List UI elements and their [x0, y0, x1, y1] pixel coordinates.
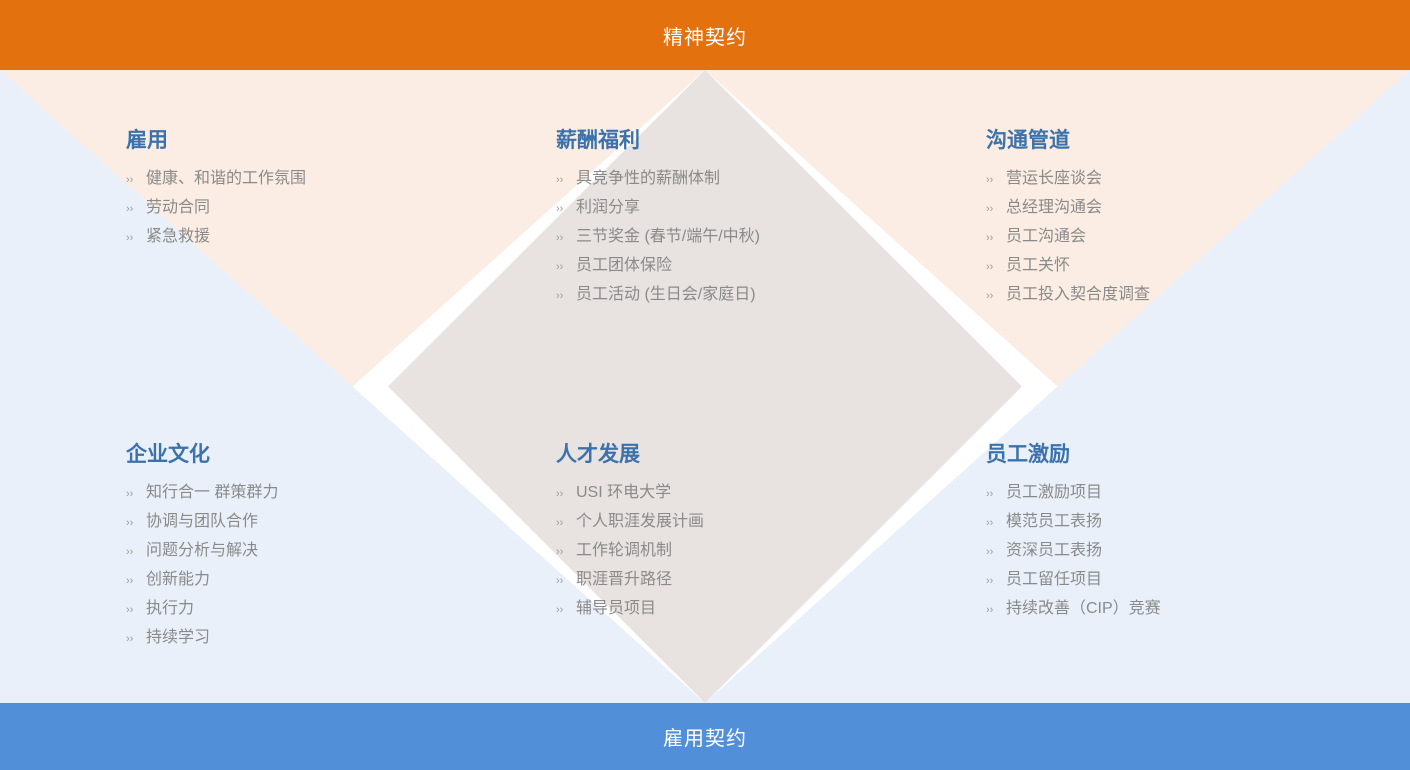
list-item-label: 员工激励项目 — [1006, 479, 1102, 507]
double-chevron-icon: ›› — [126, 625, 146, 653]
list-item-label: 员工活动 (生日会/家庭日) — [576, 281, 756, 309]
bottom-banner: 雇用契约 — [0, 703, 1410, 770]
double-chevron-icon: ›› — [556, 567, 576, 595]
list-item-label: 员工留任项目 — [1006, 566, 1102, 594]
group-item-list: ›› 营运长座谈会 ›› 总经理沟通会 ›› 员工沟通会 ›› 员工关怀 ›› — [986, 165, 1150, 310]
group-compensation-benefits: 薪酬福利 ›› 具竞争性的薪酬体制 ›› 利润分享 ›› 三节奖金 (春节/端午… — [556, 128, 760, 310]
double-chevron-icon: ›› — [556, 282, 576, 310]
double-chevron-icon: ›› — [986, 166, 1006, 194]
list-item[interactable]: ›› 资深员工表扬 — [986, 537, 1161, 566]
group-item-list: ›› USI 环电大学 ›› 个人职涯发展计画 ›› 工作轮调机制 ›› 职涯晋… — [556, 479, 704, 624]
list-item-label: 员工沟通会 — [1006, 223, 1086, 251]
list-item-label: 员工关怀 — [1006, 252, 1070, 280]
double-chevron-icon: ›› — [556, 538, 576, 566]
group-corporate-culture: 企业文化 ›› 知行合一 群策群力 ›› 协调与团队合作 ›› 问题分析与解决 … — [126, 442, 278, 653]
list-item[interactable]: ›› 员工关怀 — [986, 252, 1150, 281]
double-chevron-icon: ›› — [126, 509, 146, 537]
list-item[interactable]: ›› 员工活动 (生日会/家庭日) — [556, 281, 760, 310]
group-item-list: ›› 具竞争性的薪酬体制 ›› 利润分享 ›› 三节奖金 (春节/端午/中秋) … — [556, 165, 760, 310]
list-item[interactable]: ›› 具竞争性的薪酬体制 — [556, 165, 760, 194]
list-item-label: 协调与团队合作 — [146, 508, 258, 536]
double-chevron-icon: ›› — [126, 166, 146, 194]
double-chevron-icon: ›› — [126, 567, 146, 595]
group-title: 企业文化 — [126, 442, 278, 467]
double-chevron-icon: ›› — [986, 596, 1006, 624]
double-chevron-icon: ›› — [556, 509, 576, 537]
list-item-label: 紧急救援 — [146, 223, 210, 251]
double-chevron-icon: ›› — [556, 224, 576, 252]
list-item-label: 总经理沟通会 — [1006, 194, 1102, 222]
group-item-list: ›› 健康、和谐的工作氛围 ›› 劳动合同 ›› 紧急救援 — [126, 165, 306, 252]
double-chevron-icon: ›› — [556, 596, 576, 624]
list-item[interactable]: ›› 营运长座谈会 — [986, 165, 1150, 194]
top-banner-label: 精神契约 — [663, 21, 747, 50]
list-item-label: 营运长座谈会 — [1006, 165, 1102, 193]
list-item[interactable]: ›› 模范员工表扬 — [986, 508, 1161, 537]
bottom-banner-label: 雇用契约 — [663, 722, 747, 751]
list-item[interactable]: ›› 问题分析与解决 — [126, 537, 278, 566]
list-item-label: 持续改善（CIP）竞赛 — [1006, 595, 1161, 623]
list-item-label: 创新能力 — [146, 566, 210, 594]
list-item[interactable]: ›› 三节奖金 (春节/端午/中秋) — [556, 223, 760, 252]
double-chevron-icon: ›› — [986, 253, 1006, 281]
double-chevron-icon: ›› — [126, 195, 146, 223]
group-item-list: ›› 员工激励项目 ›› 模范员工表扬 ›› 资深员工表扬 ›› 员工留任项目 … — [986, 479, 1161, 624]
double-chevron-icon: ›› — [986, 509, 1006, 537]
double-chevron-icon: ›› — [126, 224, 146, 252]
list-item-label: 健康、和谐的工作氛围 — [146, 165, 306, 193]
list-item[interactable]: ›› 辅导员项目 — [556, 595, 704, 624]
double-chevron-icon: ›› — [556, 253, 576, 281]
list-item[interactable]: ›› 工作轮调机制 — [556, 537, 704, 566]
double-chevron-icon: ›› — [986, 567, 1006, 595]
list-item[interactable]: ›› 员工留任项目 — [986, 566, 1161, 595]
list-item[interactable]: ›› 职涯晋升路径 — [556, 566, 704, 595]
list-item-label: 资深员工表扬 — [1006, 537, 1102, 565]
double-chevron-icon: ›› — [986, 538, 1006, 566]
list-item-label: 问题分析与解决 — [146, 537, 258, 565]
top-banner: 精神契约 — [0, 0, 1410, 70]
list-item[interactable]: ›› 持续学习 — [126, 624, 278, 653]
list-item-label: 劳动合同 — [146, 194, 210, 222]
group-title: 员工激励 — [986, 442, 1161, 467]
group-title: 人才发展 — [556, 442, 704, 467]
list-item[interactable]: ›› 紧急救援 — [126, 223, 306, 252]
group-title: 雇用 — [126, 128, 306, 153]
list-item-label: 具竞争性的薪酬体制 — [576, 165, 720, 193]
list-item-label: 职涯晋升路径 — [576, 566, 672, 594]
group-title: 薪酬福利 — [556, 128, 760, 153]
list-item-label: USI 环电大学 — [576, 479, 671, 507]
list-item-label: 个人职涯发展计画 — [576, 508, 704, 536]
list-item[interactable]: ›› 员工团体保险 — [556, 252, 760, 281]
list-item-label: 员工投入契合度调查 — [1006, 281, 1150, 309]
list-item[interactable]: ›› 持续改善（CIP）竞赛 — [986, 595, 1161, 624]
list-item[interactable]: ›› 利润分享 — [556, 194, 760, 223]
double-chevron-icon: ›› — [556, 195, 576, 223]
group-communication-channels: 沟通管道 ›› 营运长座谈会 ›› 总经理沟通会 ›› 员工沟通会 ›› 员工关… — [986, 128, 1150, 310]
double-chevron-icon: ›› — [126, 596, 146, 624]
group-employee-motivation: 员工激励 ›› 员工激励项目 ›› 模范员工表扬 ›› 资深员工表扬 ›› 员工… — [986, 442, 1161, 624]
double-chevron-icon: ›› — [986, 195, 1006, 223]
list-item[interactable]: ›› 执行力 — [126, 595, 278, 624]
list-item[interactable]: ›› 知行合一 群策群力 — [126, 479, 278, 508]
group-talent-development: 人才发展 ›› USI 环电大学 ›› 个人职涯发展计画 ›› 工作轮调机制 ›… — [556, 442, 704, 624]
list-item[interactable]: ›› 创新能力 — [126, 566, 278, 595]
list-item-label: 员工团体保险 — [576, 252, 672, 280]
list-item-label: 知行合一 群策群力 — [146, 479, 278, 507]
list-item-label: 利润分享 — [576, 194, 640, 222]
list-item[interactable]: ›› 员工投入契合度调查 — [986, 281, 1150, 310]
double-chevron-icon: ›› — [986, 224, 1006, 252]
double-chevron-icon: ›› — [556, 480, 576, 508]
list-item-label: 执行力 — [146, 595, 194, 623]
content-grid: 雇用 ›› 健康、和谐的工作氛围 ›› 劳动合同 ›› 紧急救援 薪酬福利 — [0, 70, 1410, 703]
double-chevron-icon: ›› — [556, 166, 576, 194]
list-item-label: 持续学习 — [146, 624, 210, 652]
list-item[interactable]: ›› 协调与团队合作 — [126, 508, 278, 537]
list-item[interactable]: ›› 个人职涯发展计画 — [556, 508, 704, 537]
list-item[interactable]: ›› 员工沟通会 — [986, 223, 1150, 252]
group-employment: 雇用 ›› 健康、和谐的工作氛围 ›› 劳动合同 ›› 紧急救援 — [126, 128, 306, 252]
list-item-label: 工作轮调机制 — [576, 537, 672, 565]
double-chevron-icon: ›› — [126, 538, 146, 566]
psychological-contract-slide: 精神契约 雇用契约 雇用 ›› 健康、和谐的工作氛围 ›› 劳动合同 ›› 紧急… — [0, 0, 1410, 770]
list-item[interactable]: ›› 总经理沟通会 — [986, 194, 1150, 223]
list-item[interactable]: ›› 员工激励项目 — [986, 479, 1161, 508]
list-item[interactable]: ›› USI 环电大学 — [556, 479, 704, 508]
list-item-label: 辅导员项目 — [576, 595, 656, 623]
list-item-label: 三节奖金 (春节/端午/中秋) — [576, 223, 760, 251]
double-chevron-icon: ›› — [986, 282, 1006, 310]
double-chevron-icon: ›› — [126, 480, 146, 508]
double-chevron-icon: ›› — [986, 480, 1006, 508]
list-item-label: 模范员工表扬 — [1006, 508, 1102, 536]
group-item-list: ›› 知行合一 群策群力 ›› 协调与团队合作 ›› 问题分析与解决 ›› 创新… — [126, 479, 278, 653]
list-item[interactable]: ›› 健康、和谐的工作氛围 — [126, 165, 306, 194]
group-title: 沟通管道 — [986, 128, 1150, 153]
list-item[interactable]: ›› 劳动合同 — [126, 194, 306, 223]
